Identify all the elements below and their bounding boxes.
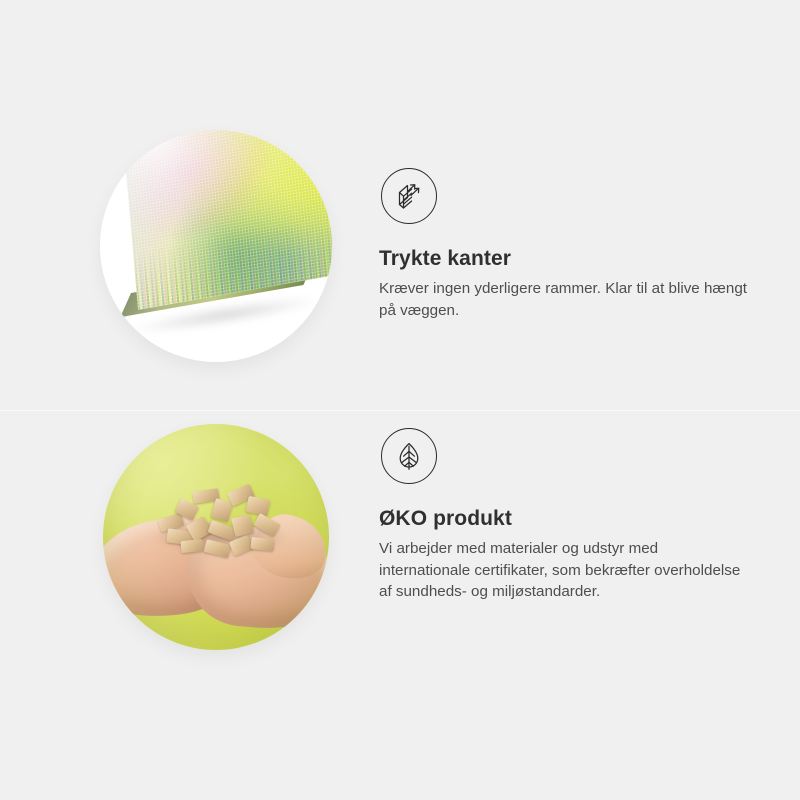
feature-text-printed-edges: Trykte kanter Kræver ingen yderligere ra… [379,168,759,321]
hands-with-wood-chips-illustration [103,424,329,650]
section-divider [0,410,800,411]
feature-image-eco [103,424,329,650]
image-vignette [103,424,329,650]
feature-text-eco: ØKO produkt Vi arbejder med materialer o… [379,428,759,603]
canvas-wrapped-edges-icon [381,168,437,224]
canvas-corner-illustration [100,130,332,362]
feature-title-eco: ØKO produkt [379,484,759,531]
feature-block-printed-edges: Trykte kanter Kræver ingen yderligere ra… [0,100,800,410]
feature-block-eco: ØKO produkt Vi arbejder med materialer o… [0,412,800,712]
feature-description-printed-edges: Kræver ingen yderligere rammer. Klar til… [379,271,751,321]
feature-image-printed-edges [100,130,332,362]
product-feature-panel: Trykte kanter Kræver ingen yderligere ra… [0,0,800,800]
feature-title-printed-edges: Trykte kanter [379,224,759,271]
leaf-icon [381,428,437,484]
feature-description-eco: Vi arbejder med materialer og udstyr med… [379,531,751,603]
